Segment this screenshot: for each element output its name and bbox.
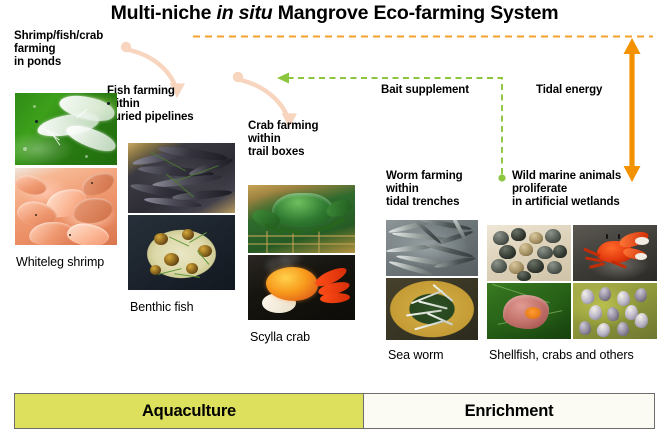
photo-fiddler-crab bbox=[573, 225, 657, 281]
caption-shrimp: Whiteleg shrimp bbox=[16, 255, 104, 269]
title-italic: in situ bbox=[217, 2, 273, 24]
label-worm-farming: Worm farming within tidal trenches bbox=[386, 170, 506, 210]
label-ponds: Shrimp/fish/crab farming in ponds bbox=[14, 30, 139, 70]
caption-shellfish: Shellfish, crabs and others bbox=[489, 348, 634, 362]
pond-arrow-2-path bbox=[241, 80, 288, 118]
photo-crab-live bbox=[248, 185, 355, 253]
title-part-1: Multi-niche bbox=[111, 2, 217, 24]
photo-shrimp-cooked bbox=[15, 168, 117, 245]
caption-fish: Benthic fish bbox=[130, 300, 193, 314]
label-trailboxes: Crab farming within trail boxes bbox=[248, 120, 378, 160]
bar-cell-enrichment: Enrichment bbox=[363, 394, 654, 428]
photo-fish-raw bbox=[128, 143, 235, 213]
category-bar: Aquaculture Enrichment bbox=[14, 393, 655, 429]
bar-cell-aquaculture: Aquaculture bbox=[15, 394, 363, 428]
photo-shrimp-live bbox=[15, 93, 117, 165]
label-pipelines: Fish farming within buried pipelines bbox=[107, 85, 247, 125]
bar-label-aquaculture: Aquaculture bbox=[142, 402, 236, 421]
bar-label-enrichment: Enrichment bbox=[465, 402, 554, 421]
photo-clams bbox=[487, 225, 571, 281]
label-wild-marine: Wild marine animals proliferate in artif… bbox=[512, 170, 662, 210]
caption-crab: Scylla crab bbox=[250, 330, 310, 344]
photo-sea-slug bbox=[487, 283, 571, 339]
bait-arrow-head bbox=[277, 73, 289, 84]
photo-periwinkles bbox=[573, 283, 657, 339]
photo-fish-dish bbox=[128, 215, 235, 290]
label-bait-supplement: Bait supplement bbox=[381, 84, 541, 97]
title-part-2: Mangrove Eco-farming System bbox=[273, 2, 559, 24]
pond-arrow-2-dot bbox=[233, 72, 243, 82]
photo-crab-dish bbox=[248, 255, 355, 320]
photo-worm-raw bbox=[386, 220, 478, 276]
label-tidal-energy: Tidal energy bbox=[536, 84, 656, 97]
page-title: Multi-niche in situ Mangrove Eco-farming… bbox=[0, 2, 669, 25]
photo-worm-dish bbox=[386, 278, 478, 340]
caption-seaworm: Sea worm bbox=[388, 348, 443, 362]
tidal-energy-arrow-head-up bbox=[624, 38, 641, 54]
